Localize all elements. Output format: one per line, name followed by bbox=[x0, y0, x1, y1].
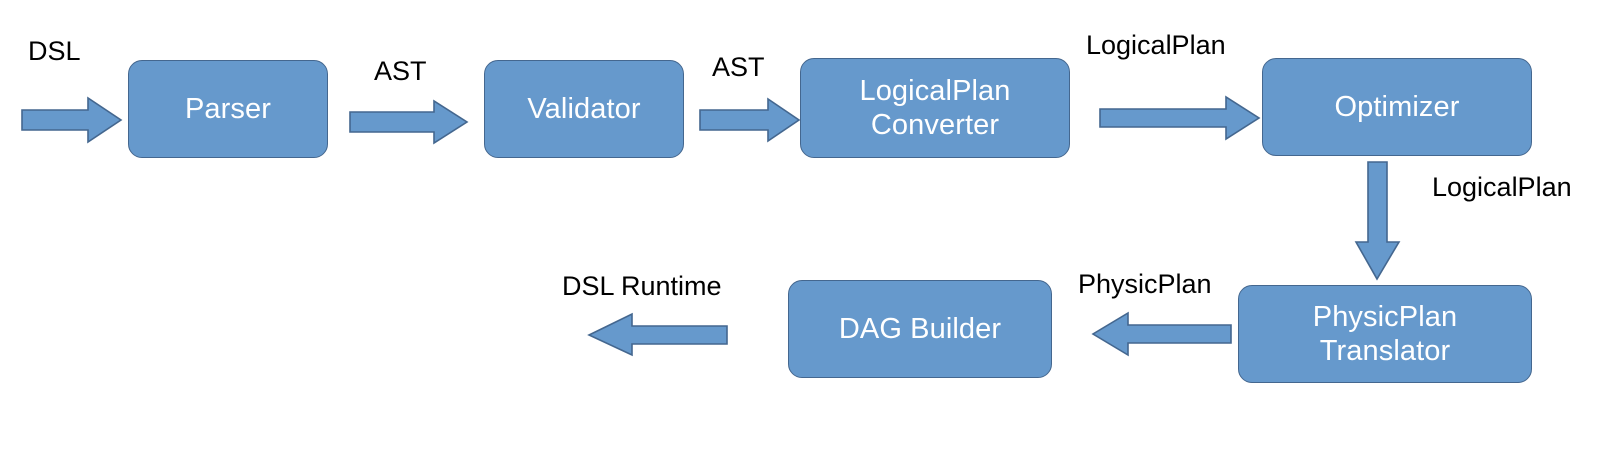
node-parser[interactable]: Parser bbox=[128, 60, 328, 158]
flowchart-diagram: DSL Parser AST Validator AST LogicalPlan… bbox=[0, 0, 1598, 450]
node-validator[interactable]: Validator bbox=[484, 60, 684, 158]
arrow-dag-to-runtime bbox=[588, 312, 728, 356]
arrow-converter-to-optimizer bbox=[1100, 96, 1260, 140]
node-dag-builder-label: DAG Builder bbox=[833, 312, 1007, 346]
node-physicplan-translator[interactable]: PhysicPlan Translator bbox=[1238, 285, 1532, 383]
node-logicalplan-converter[interactable]: LogicalPlan Converter bbox=[800, 58, 1070, 158]
arrow-translator-to-dag bbox=[1092, 312, 1232, 356]
arrow-dsl-to-parser bbox=[22, 96, 122, 144]
edge-label-physicplan: PhysicPlan bbox=[1078, 271, 1212, 298]
edge-label-dsl: DSL bbox=[28, 38, 81, 65]
node-validator-label: Validator bbox=[521, 92, 646, 126]
node-physicplan-translator-label: PhysicPlan Translator bbox=[1307, 300, 1463, 368]
node-optimizer[interactable]: Optimizer bbox=[1262, 58, 1532, 156]
edge-label-logicalplan-2: LogicalPlan bbox=[1432, 174, 1572, 201]
node-dag-builder[interactable]: DAG Builder bbox=[788, 280, 1052, 378]
edge-label-logicalplan-1: LogicalPlan bbox=[1086, 32, 1226, 59]
arrow-optimizer-to-translator bbox=[1355, 162, 1401, 280]
arrow-validator-to-converter bbox=[700, 98, 800, 142]
node-parser-label: Parser bbox=[179, 92, 277, 126]
edge-label-dsl-runtime: DSL Runtime bbox=[562, 273, 722, 300]
node-optimizer-label: Optimizer bbox=[1329, 90, 1466, 124]
edge-label-ast-2: AST bbox=[712, 54, 765, 81]
arrow-parser-to-validator bbox=[350, 100, 468, 144]
edge-label-ast-1: AST bbox=[374, 58, 427, 85]
node-logicalplan-converter-label: LogicalPlan Converter bbox=[853, 74, 1016, 142]
